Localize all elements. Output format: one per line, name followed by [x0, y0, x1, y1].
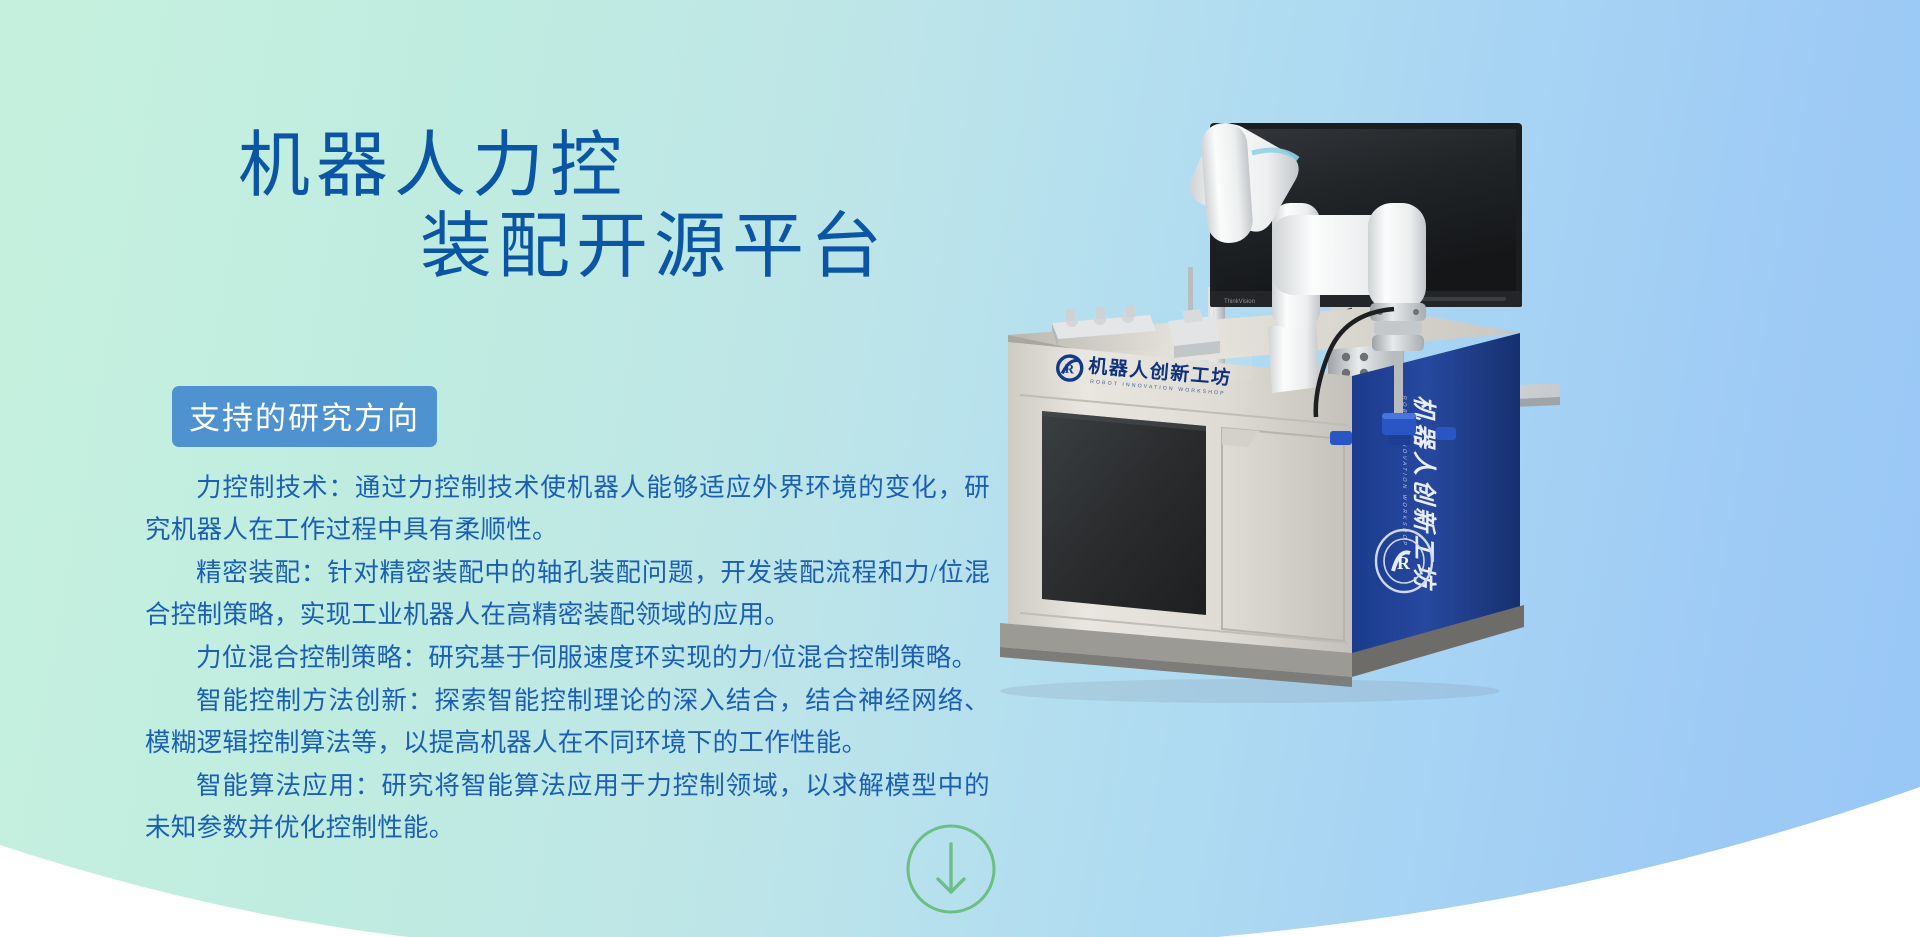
monitor-brand-label: ThinkVision	[1224, 299, 1255, 305]
headline-line-1: 机器人力控	[0, 126, 1010, 207]
tool-shaft	[1394, 351, 1403, 415]
arrow-down-icon	[938, 844, 964, 892]
headline-line-2: 装配开源平台	[0, 207, 1010, 288]
hero-banner: 机器人力控 装配开源平台 支持的研究方向 力控制技术：通过力控制技术使机器人能够…	[0, 0, 1920, 937]
cabinet-door[interactable]	[1042, 411, 1206, 615]
side-panel-emblem: R	[1376, 530, 1432, 592]
equipment-photo: ThinkVision	[1000, 95, 1920, 795]
research-direction-item: 力控制技术：通过力控制技术使机器人能够适应外界环境的变化，研究机器人在工作过程中…	[145, 467, 990, 551]
research-directions-list: 力控制技术：通过力控制技术使机器人能够适应外界环境的变化，研究机器人在工作过程中…	[145, 467, 990, 850]
research-direction-item: 精密装配：针对精密装配中的轴孔装配问题，开发装配流程和力/位混合控制策略，实现工…	[145, 552, 990, 636]
assembly-part-b	[1436, 427, 1456, 440]
assembly-part-a	[1330, 431, 1352, 445]
svg-text:R: R	[1397, 553, 1411, 573]
hero-text-column: 机器人力控 装配开源平台 支持的研究方向 力控制技术：通过力控制技术使机器人能够…	[0, 0, 1010, 937]
research-direction-item: 力位混合控制策略：研究基于伺服速度环实现的力/位混合控制策略。	[145, 637, 990, 679]
workbench-cabinet: R 机器人创新工坊 ROBOT INNOVATION WORKSHOP	[1000, 307, 1524, 687]
research-direction-item: 智能控制方法创新：探索智能控制理论的深入结合，结合神经网络、模糊逻辑控制算法等，…	[145, 680, 990, 764]
scroll-down-button[interactable]	[905, 823, 997, 915]
research-direction-item: 智能算法应用：研究将智能算法应用于力控制领域，以求解模型中的未知参数并优化控制性…	[145, 765, 990, 849]
page-title: 机器人力控 装配开源平台	[0, 126, 1010, 287]
section-badge: 支持的研究方向	[172, 386, 437, 447]
cabinet-shadow	[1000, 679, 1500, 703]
